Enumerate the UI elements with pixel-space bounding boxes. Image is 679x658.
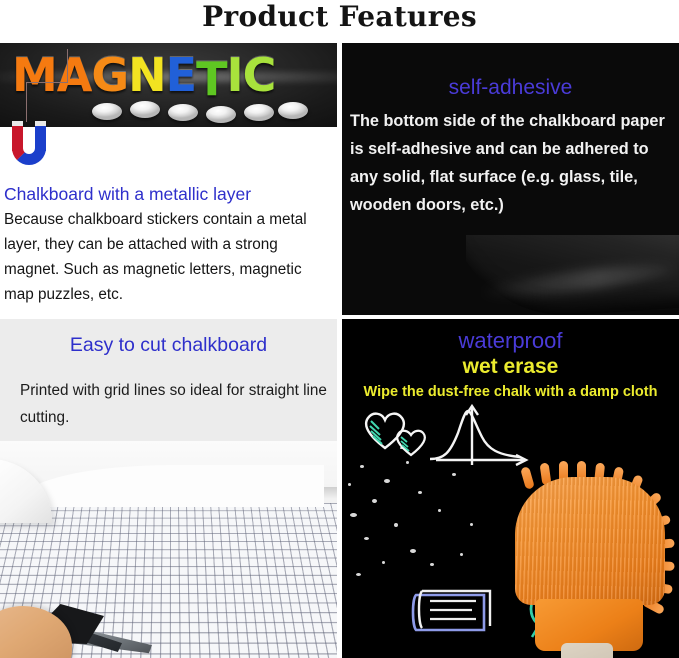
magnet-disc [130,101,160,118]
magnetic-letter-e: E [166,50,196,100]
panel-waterproof: waterproof wet erase Wipe the dust-free … [342,319,679,658]
chalk-dust-speck [470,523,473,526]
magnet-leader-line [67,49,68,83]
chalk-dust-speck [410,549,416,553]
magnetic-letters-group: M A G N E T I C [12,47,332,103]
chalk-dust-speck [418,491,422,494]
waterproof-caption: Wipe the dust-free chalk with a damp clo… [342,382,679,402]
chalk-dust-speck [384,479,390,483]
self-adhesive-body: The bottom side of the chalkboard paper … [350,107,675,219]
horseshoe-magnet-icon [4,121,64,183]
chalk-dust-speck [406,461,409,464]
chalk-heart-small-icon [394,427,428,457]
magnetic-body: Because chalkboard stickers contain a me… [4,207,334,307]
chalk-dust-speck [364,537,369,540]
chalk-dust-speck [356,573,361,576]
product-features-infographic: Product Features M A G N E T I C [0,0,679,658]
easy-to-cut-heading: Easy to cut chalkboard [0,333,337,357]
paper-curl [0,459,52,523]
magnet-tip [12,121,23,126]
chalk-book-icon [410,581,498,639]
chalk-dust-speck [348,483,351,486]
chalk-dust-speck [350,513,357,517]
panel-easy-to-cut: Easy to cut chalkboard Printed with grid… [0,319,337,658]
magnetic-letter-i: I [226,50,242,100]
magnet-leader-line [26,82,27,122]
chalkboard-surface: M A G N E T I C [0,43,337,127]
magnet-tip [35,121,46,126]
magnet-disc-row [92,101,307,123]
magnetic-letter-c: C [243,50,276,100]
chalk-dust-speck [372,499,377,503]
magnetic-letter-a: A [57,50,92,100]
magnet-leader-line [26,82,68,83]
chalk-dust-speck [452,473,456,476]
magnetic-letter-m: M [12,50,57,100]
magnet-disc [92,103,122,120]
self-adhesive-heading: self-adhesive [342,75,679,101]
cutting-photo [0,441,337,658]
magnet-disc [168,104,198,121]
chalk-dust-speck [360,465,364,468]
microfiber-cleaning-mitt [509,467,679,658]
chalk-dust-speck [460,553,463,556]
paper-top-edge [24,465,324,507]
chalk-dust-speck [394,523,398,527]
waterproof-heading: waterproof [342,327,679,354]
chalk-drawing-stage [342,403,679,658]
peeling-corner-graphic [466,235,679,315]
magnetic-heading: Chalkboard with a metallic layer [4,183,334,205]
easy-to-cut-body: Printed with grid lines so ideal for str… [20,377,330,431]
magnet-disc [244,104,274,121]
chalk-dust-speck [382,561,385,564]
magnet-disc [278,102,308,119]
mitt-fiber [520,466,535,490]
magnet-bend [12,139,46,165]
panel-self-adhesive: self-adhesive The bottom side of the cha… [342,43,679,315]
chalk-dust-speck [430,563,434,566]
magnet-disc [206,106,236,123]
page-title: Product Features [0,0,679,42]
magnet-u-shape [12,121,46,165]
wet-erase-subheading: wet erase [342,354,679,380]
chalk-dust-speck [438,509,441,512]
magnetic-letter-n: N [128,50,166,100]
mitt-texture [515,477,665,605]
magnetic-letter-g: G [91,50,128,100]
panel-magnetic: M A G N E T I C [0,43,337,315]
mitt-wrist [561,643,613,658]
chalk-graph-curve-icon [428,403,538,473]
chalk-dust-speck [400,447,403,449]
magnetic-text-block: Chalkboard with a metallic layer Because… [4,183,334,307]
magnetic-letter-t: T [196,54,226,104]
